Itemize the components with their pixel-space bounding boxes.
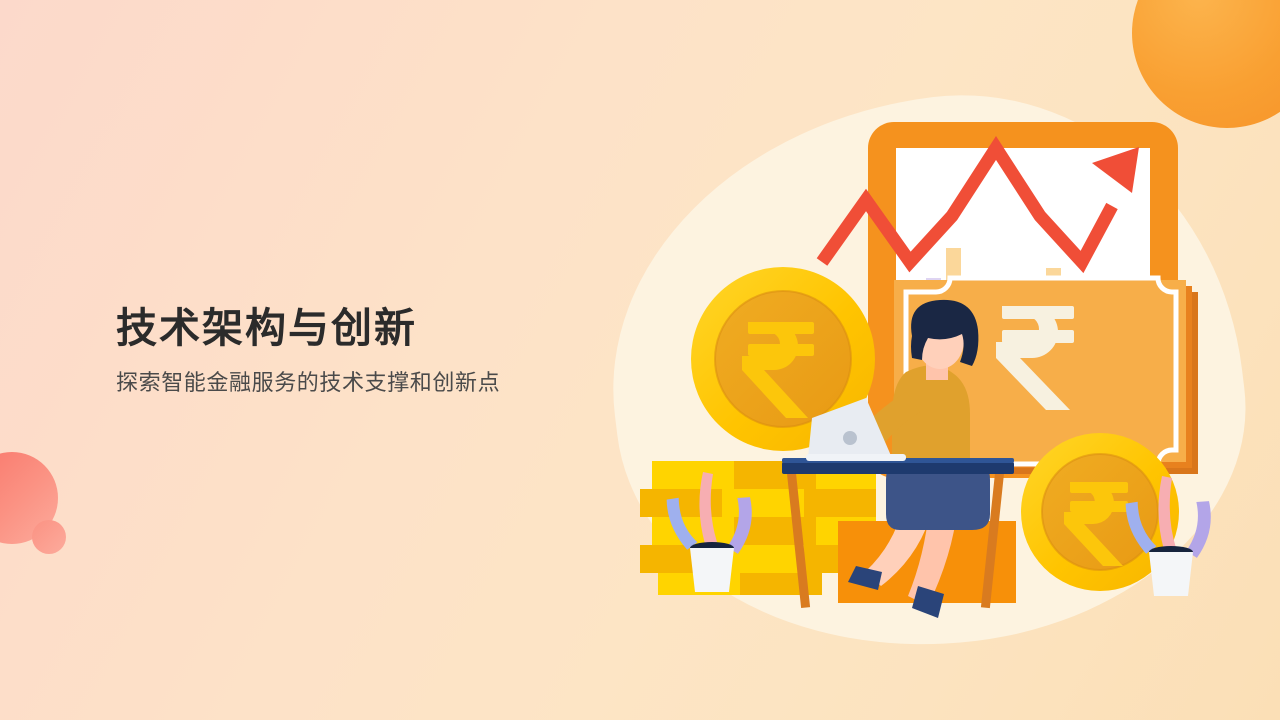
illustration-blob-backdrop [581, 64, 1271, 681]
page-title: 技术架构与创新 [116, 305, 636, 352]
decor-circle-coral-small [32, 520, 66, 554]
decor-circle-orange-top-right [1132, 0, 1280, 128]
title-group: 技术架构与创新 探索智能金融服务的技术支撑和创新点 [116, 305, 636, 398]
page-subtitle: 探索智能金融服务的技术支撑和创新点 [116, 369, 636, 398]
slide-canvas: 技术架构与创新 探索智能金融服务的技术支撑和创新点 [0, 0, 1280, 720]
